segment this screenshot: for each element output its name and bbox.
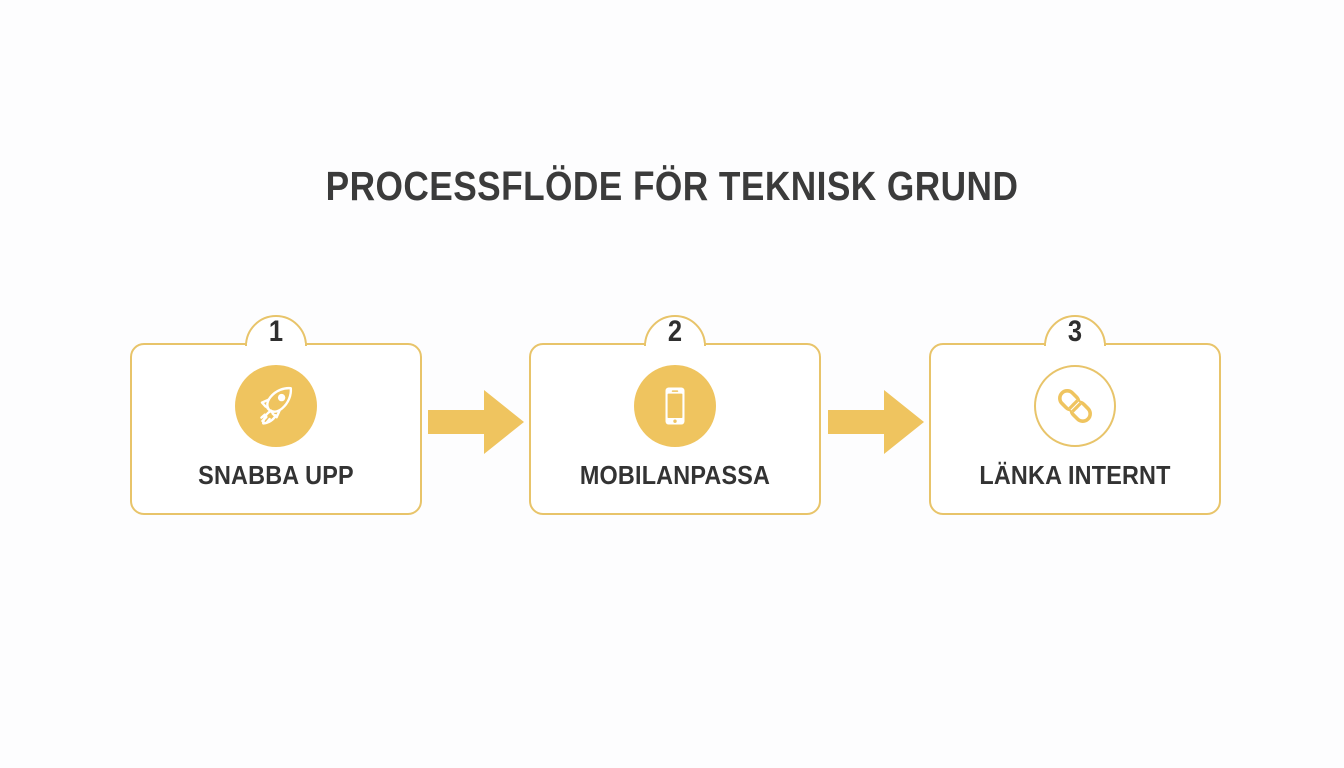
step-number-2: 2 bbox=[649, 316, 702, 347]
step-number-1: 1 bbox=[250, 316, 303, 347]
step-card-2[interactable]: 2 MOBILANPASSA bbox=[529, 343, 821, 515]
step-label-2: MOBILANPASSA bbox=[545, 462, 804, 488]
step-label-1: SNABBA UPP bbox=[146, 462, 405, 488]
chain-link-icon bbox=[1034, 365, 1116, 447]
step-label-3: LÄNKA INTERNT bbox=[945, 462, 1204, 488]
step-card-1[interactable]: 1 SNABBA UPP bbox=[130, 343, 422, 515]
step-number-3: 3 bbox=[1049, 316, 1102, 347]
page-title: PROCESSFLÖDE FÖR TEKNISK GRUND bbox=[94, 166, 1250, 207]
rocket-icon bbox=[235, 365, 317, 447]
flow-row: 1 SNABBA UPP bbox=[130, 315, 1222, 515]
arrow-right-icon-1 bbox=[428, 388, 524, 456]
arrow-right-icon-2 bbox=[828, 388, 924, 456]
process-flow-diagram: PROCESSFLÖDE FÖR TEKNISK GRUND 1 bbox=[0, 0, 1344, 768]
step-card-3[interactable]: 3 LÄNKA INTERNT bbox=[929, 343, 1221, 515]
smartphone-icon bbox=[634, 365, 716, 447]
